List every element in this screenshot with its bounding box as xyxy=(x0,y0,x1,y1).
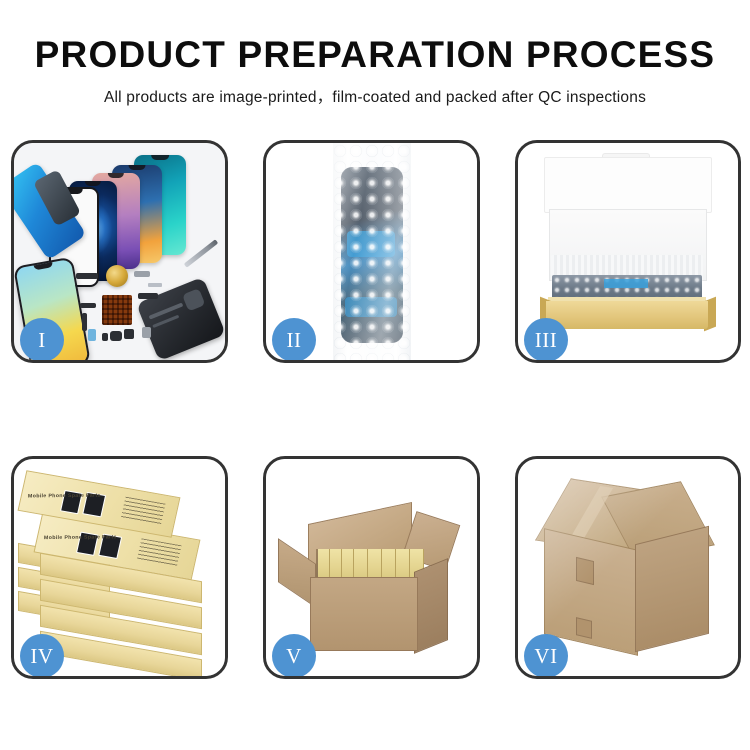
plastic-sheen xyxy=(332,143,412,360)
camera-module-icon xyxy=(182,288,205,311)
step-numeral-badge: VI xyxy=(524,634,568,678)
page-title: PRODUCT PREPARATION PROCESS xyxy=(0,0,750,75)
copper-grid-part-icon xyxy=(102,295,132,325)
box-label-text: Mobile Phone Spare Parts xyxy=(28,493,101,500)
process-step-panel-5[interactable]: V xyxy=(263,456,480,679)
box-label-text: Mobile Phone Spare Parts xyxy=(44,534,117,541)
box-spec-lines xyxy=(121,497,166,525)
process-step-panel-4[interactable]: Mobile Phone Spare Parts Mobile Phone Sp… xyxy=(11,456,228,679)
process-step-panel-3[interactable]: III xyxy=(515,140,741,363)
item-blue-accent xyxy=(604,279,648,288)
screwdriver-icon xyxy=(184,239,219,268)
step-numeral-badge: I xyxy=(20,318,64,362)
small-part-9 xyxy=(142,327,151,338)
carton-side-panel xyxy=(414,558,448,654)
box-front-panel xyxy=(546,301,708,329)
carton-right-panel xyxy=(635,526,709,652)
process-step-panel-2[interactable]: II xyxy=(263,140,480,363)
small-part-7 xyxy=(138,293,158,299)
small-part-8 xyxy=(124,329,134,339)
carton-front-panel xyxy=(310,577,418,651)
small-part-6 xyxy=(134,271,150,277)
small-part-2 xyxy=(88,329,96,341)
small-part-11 xyxy=(148,283,162,287)
process-step-panel-1[interactable]: I xyxy=(11,140,228,363)
step-numeral-badge: V xyxy=(272,634,316,678)
small-part-5 xyxy=(110,331,122,341)
box-spec-lines xyxy=(137,538,182,566)
process-step-grid: I II xyxy=(11,140,741,679)
phone-back-housing-icon xyxy=(136,277,225,360)
small-part-1 xyxy=(76,273,98,279)
page-header: PRODUCT PREPARATION PROCESS All products… xyxy=(0,0,750,107)
small-part-4 xyxy=(82,313,87,331)
wireless-charge-coil-icon xyxy=(106,265,128,287)
page-subtitle: All products are image-printed，film-coat… xyxy=(0,75,750,107)
step-numeral-badge: II xyxy=(272,318,316,362)
process-step-panel-6[interactable]: VI xyxy=(515,456,741,679)
step-numeral-badge: IV xyxy=(20,634,64,678)
small-part-3 xyxy=(80,303,96,308)
small-part-10 xyxy=(102,333,108,341)
carton-flap-tab-lower xyxy=(576,617,592,639)
step-numeral-badge: III xyxy=(524,318,568,362)
carton-flap-tab xyxy=(576,557,594,585)
box-lid-open xyxy=(544,157,712,213)
